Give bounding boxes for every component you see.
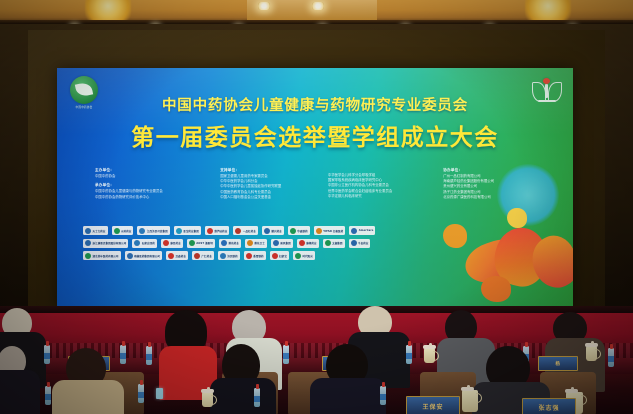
placard-name: 杨 [555,361,560,367]
sponsor-logo: 葫芦娃药业 [205,226,230,235]
kid-figure [443,224,467,248]
sponsor-logo-row: 浙江康恩贝集团股份有限公司石家庄四药康臣药业AOST 澳斯特葵花药业葵花卫士普风… [83,239,483,248]
column-line: 扬子江药业集团有限公司 [443,190,545,195]
logo-caption: 中国中药协会 [67,105,101,109]
sponsor-logo: 一品红药业 [233,226,258,235]
support-column-1: 支持单位： 国家卫健委儿童用药专家委员会 中华中医药学会儿科分会 中华中医药学会… [220,168,328,200]
screen-glow-blob [497,164,559,226]
sponsor-logo: 浙江康恩贝集团股份有限公司 [83,239,128,248]
organizer-columns: 主办单位： 中国中药协会 承办单位： 中国中药协会儿童健康与药物研究专业委员会 … [95,168,545,200]
support-column-2: 中华医学会儿科学分会呼吸学组 国家呼吸系统疾病临床医学研究中心 中国非公立医疗机… [328,168,443,200]
sponsor-logo: 康臣药业 [161,239,183,248]
sponsor-logo-name: 南峰医药集团有限公司 [134,254,160,258]
sponsor-logo: YIFAN 亿帆医药 [314,226,346,235]
sponsor-logo-name: AOST 澳斯特 [196,241,213,245]
sponsor-logo-mark-icon [85,240,91,246]
sponsor-logo-mark-icon [351,228,357,234]
mug-knob [571,387,574,390]
torso [210,378,276,414]
sponsor-logo-mark-icon [194,253,200,259]
sponsor-logo-row: 天士力药业以岭药业江西济民可信集团亚宝药业集团葫芦娃药业一品红药业健兴药业华森制… [83,226,483,235]
kid-figure [524,229,573,295]
sponsor-logo: 天士力药业 [83,226,108,235]
sponsor-logo: 湖北美年医药有限公司 [83,251,121,260]
water-bottle [608,348,614,367]
sponsor-logo-name: 健兴药业 [271,229,281,233]
sponsor-logo-mark-icon [273,240,279,246]
sponsor-logo: 妇舒宝 [270,251,289,260]
sponsor-logo: 康缘药业 [297,239,319,248]
name-placard: 杨 [538,356,578,371]
sponsor-logo-mark-icon [316,228,322,234]
name-placard: 王保安 [406,396,460,414]
column-heading: 协办单位： [443,168,545,173]
sponsor-logo-mark-icon [176,228,182,234]
mug-knob [591,341,594,344]
water-bottle [146,346,152,365]
column-line: 贵州健兴药业有限公司 [443,184,545,189]
sponsor-logo-mark-icon [325,240,331,246]
tea-mug [424,348,435,363]
kid-figure [481,276,511,302]
sponsor-logo-name: 太极集团 [332,241,342,245]
sponsor-logo: 华森制药 [288,226,310,235]
column-heading: 支持单位： [220,168,328,173]
sponsor-logo-name: 时代阳光 [302,254,312,258]
kid-figure [460,234,528,290]
sponsor-logo-mark-icon [207,228,213,234]
water-bottle [254,388,260,407]
sponsor-logo-name: 千金药业 [358,241,368,245]
association-logo: 中国中药协会 [67,76,101,110]
conference-hall-photo: 中国中药协会 中国中药协会儿童健康与药物研究专业委员会 第一届委员会选举暨学组成… [0,0,633,414]
column-line: 广州一品红制药有限公司 [443,174,545,179]
sponsor-logo: 江西济民可信集团 [137,226,169,235]
column-line: 世界中医药学会联合会妇疫临床专业委员会 [328,189,443,194]
water-bottle [45,386,51,405]
mug-knob [467,385,470,388]
emblem-wing-right [548,82,562,102]
organizer-column: 主办单位： 中国中药协会 承办单位： 中国中药协会儿童健康与药物研究专业委员会 … [95,168,220,200]
committee-emblem [530,75,564,109]
column-line: 北京药源广康医药科技有限公司 [443,195,545,200]
sponsor-logo-mark-icon [247,240,253,246]
sponsor-logo-name: AmerCare [359,229,374,232]
sponsor-logo-mark-icon [295,253,301,259]
sponsor-logo-name: YIFAN 亿帆医药 [323,229,343,233]
emblem-wing-left [532,82,546,102]
sponsor-logo: 时代阳光 [293,251,315,260]
kid-figure [507,208,527,228]
column-line: 中国医药教育协会儿科专业委员会 [220,190,328,195]
emblem-red-dot [543,78,550,84]
column-line: 中国中药协会 [95,174,220,179]
sponsor-logo: AOST 澳斯特 [187,239,215,248]
water-bottle [120,345,126,364]
sponsor-logo-name: 葵花卫士 [254,241,264,245]
sponsor-logo: 以岭药业 [112,226,134,235]
sponsor-logo-name: 普风集团 [280,241,290,245]
water-bottle [283,345,289,364]
kid-figure [489,223,553,292]
sponsor-logo-name: 香雪制药 [253,254,263,258]
column-line: 中华中医药学会儿科分会 [220,179,328,184]
sponsor-logo: 汉森药业 [166,251,188,260]
tea-mug [202,392,213,407]
sponsor-logo: 千金药业 [349,239,371,248]
tea-mug [462,390,478,412]
column-line: 国家呼吸系统疾病临床医学研究中心 [328,178,443,183]
banner-title-line1: 中国中药协会儿童健康与药物研究专业委员会 [57,94,573,115]
sponsor-logo: 香雪制药 [244,251,266,260]
sponsor-logo-grid: 天士力药业以岭药业江西济民可信集团亚宝药业集团葫芦娃药业一品红药业健兴药业华森制… [83,226,483,264]
column-line: 中华中医药学会儿童孤独症协作研究联盟 [220,184,328,189]
sponsor-logo: 葵花卫士 [245,239,267,248]
sponsor-logo-name: 葫芦娃药业 [214,229,227,233]
sponsor-logo-mark-icon [221,240,227,246]
water-bottle [380,386,386,405]
sponsor-logo-row: 湖北美年医药有限公司南峰医药集团有限公司汉森药业广汇药业济民制药香雪制药妇舒宝时… [83,251,483,260]
co-organizer-column: 协办单位： 广州一品红制药有限公司 海南葫芦娃药业集团股份有限公司 贵州健兴药业… [443,168,545,200]
water-bottle [44,345,50,364]
sponsor-logo-name: 天士力药业 [93,229,106,233]
column-line: 中国人口福利基金会公益关爱基金 [220,195,328,200]
column-line: 中国中药协会儿童健康与药物研究专业委员会 [95,189,220,194]
sponsor-logo-name: 华森制药 [297,229,307,233]
sponsor-logo-mark-icon [139,228,145,234]
sponsor-logo-name: 湖北美年医药有限公司 [93,254,119,258]
sponsor-logo: 广汇药业 [192,251,214,260]
sponsor-logo-mark-icon [85,228,91,234]
sponsor-logo-mark-icon [134,240,140,246]
column-line: 中华定期儿科临床研究 [328,194,443,199]
sponsor-logo-name: 济民制药 [227,254,237,258]
sponsor-logo-name: 一品红药业 [243,229,256,233]
sponsor-logo-mark-icon [272,253,278,259]
mug-knob [429,343,432,346]
sponsor-logo-name: 汉森药业 [176,254,186,258]
emblem-stem [545,84,548,98]
column-line: 海南葫芦娃药业集团股份有限公司 [443,179,545,184]
sponsor-logo-mark-icon [163,240,169,246]
sponsor-logo: 太极集团 [323,239,345,248]
mug-knob [207,387,210,390]
column-heading [328,168,443,172]
sponsor-logo-mark-icon [290,228,296,234]
sponsor-logo-mark-icon [127,253,133,259]
leaf-icon [75,81,93,97]
projector-light-right [312,2,324,10]
column-line: 中国中药协会药物研究评价技术中心 [95,195,220,200]
sponsor-logo-mark-icon [189,240,195,246]
logo-disc [70,76,98,104]
torso [0,370,40,414]
banner-title-line2: 第一届委员会选举暨学组成立大会 [57,118,573,152]
sponsor-logo-mark-icon [235,228,241,234]
sponsor-logo: 葵花药业 [219,239,241,248]
sponsor-logo-mark-icon [264,228,270,234]
placard-name: 王保安 [422,402,443,411]
sponsor-logo-mark-icon [246,253,252,259]
placard-name: 张志强 [538,403,559,412]
emblem-base [538,100,556,103]
sponsor-logo-mark-icon [299,240,305,246]
column-line: 中国非公立医疗机构协会儿科专业委员会 [328,183,443,188]
sponsor-logo: AmerCare [349,226,375,235]
sponsor-logo-mark-icon [351,240,357,246]
led-banner-screen: 中国中药协会 中国中药协会儿童健康与药物研究专业委员会 第一届委员会选举暨学组成… [57,68,573,308]
emblem-icon [532,77,562,103]
sponsor-logo: 济民制药 [218,251,240,260]
sponsor-logo-name: 广汇药业 [201,254,211,258]
children-figures-graphic [429,190,573,308]
column-line: 中华医学会儿科学分会呼吸学组 [328,173,443,178]
sponsor-logo-name: 石家庄四药 [142,241,155,245]
name-placard: 张志强 [522,398,576,414]
column-heading: 主办单位： [95,168,220,173]
water-bottle [406,345,412,364]
column-line: 国家卫健委儿童用药专家委员会 [220,174,328,179]
sponsor-logo: 健兴药业 [262,226,284,235]
sponsor-logo-name: 浙江康恩贝集团股份有限公司 [93,241,127,245]
sponsor-logo-name: 以岭药业 [121,229,131,233]
torso [310,378,386,414]
sponsor-logo-mark-icon [114,228,120,234]
sponsor-logo-name: 江西济民可信集团 [147,229,168,233]
sponsor-logo: 亚宝药业集团 [174,226,201,235]
projector-light-left [258,2,270,10]
column-heading-2: 承办单位： [95,183,220,188]
torso [52,380,124,414]
sponsor-logo: 石家庄四药 [132,239,157,248]
sponsor-logo: 普风集团 [271,239,293,248]
sponsor-logo-name: 康臣药业 [170,241,180,245]
tea-mug [586,346,597,361]
sponsor-logo-name: 妇舒宝 [279,254,287,258]
sponsor-logo-name: 葵花药业 [228,241,238,245]
sponsor-logo-mark-icon [220,253,226,259]
sponsor-logo: 南峰医药集团有限公司 [125,251,163,260]
sponsor-logo-name: 康缘药业 [306,241,316,245]
sponsor-logo-mark-icon [85,253,91,259]
sponsor-logo-name: 亚宝药业集团 [183,229,199,233]
water-bottle [138,384,144,403]
smartphone[interactable] [156,388,163,399]
sponsor-logo-mark-icon [168,253,174,259]
